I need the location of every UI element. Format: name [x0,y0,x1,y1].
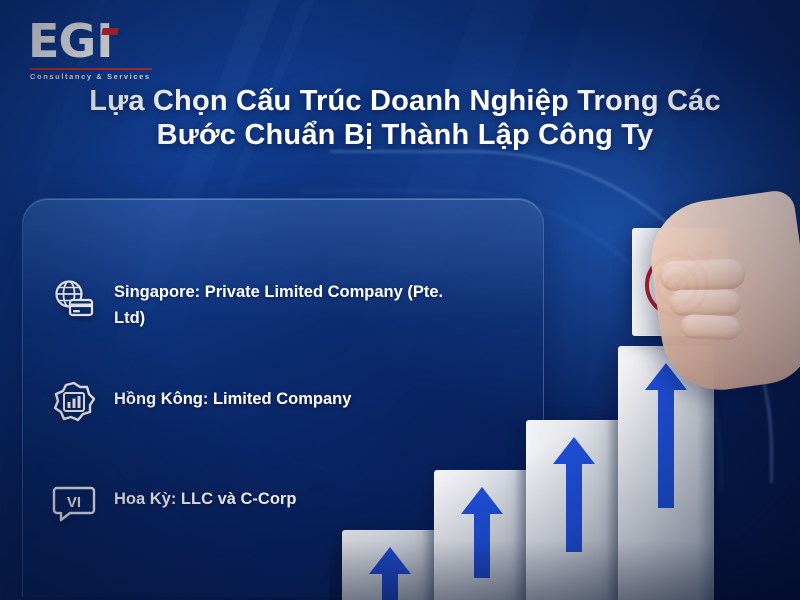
brand-divider [30,68,152,70]
brand-logo-mark: E G I [28,18,178,64]
up-arrow-icon [548,434,600,554]
up-arrow-icon [364,544,416,600]
block-2 [434,470,530,600]
svg-text:VI: VI [67,494,81,511]
brand-tagline: Consultancy & Services [30,72,151,81]
page-title: Lựa Chọn Cấu Trúc Doanh Nghiệp Trong Các… [80,84,730,152]
brand-letter-g: G [58,18,95,64]
up-arrow-icon [640,360,692,510]
list-item-label: Hoa Kỳ: LLC và C-Corp [114,480,296,512]
globe-card-icon [52,278,96,322]
bar-chart-badge-icon [52,380,96,424]
block-3 [526,420,622,600]
block-1 [342,530,438,600]
brand-logo: E G I Consultancy & Services [28,18,178,84]
list-item-label: Hồng Kông: Limited Company [114,380,351,412]
finger [659,258,746,291]
vi-chat-bubble-icon: VI [52,480,96,524]
brand-accent-bar [101,28,118,35]
finger [669,290,741,316]
list-item: Hồng Kông: Limited Company [52,380,351,424]
finger [680,314,741,340]
brand-letter-e: E [28,18,58,64]
arrow-container [434,470,530,600]
arrow-container [342,530,438,600]
blocks-graphic [330,200,800,600]
up-arrow-icon [456,484,508,580]
poster-canvas: E G I Consultancy & Services Lựa Chọn Cấ… [0,0,800,600]
list-item: VI Hoa Kỳ: LLC và C-Corp [52,480,296,524]
brand-letter-i: I [96,18,112,64]
arrow-container [526,420,622,600]
